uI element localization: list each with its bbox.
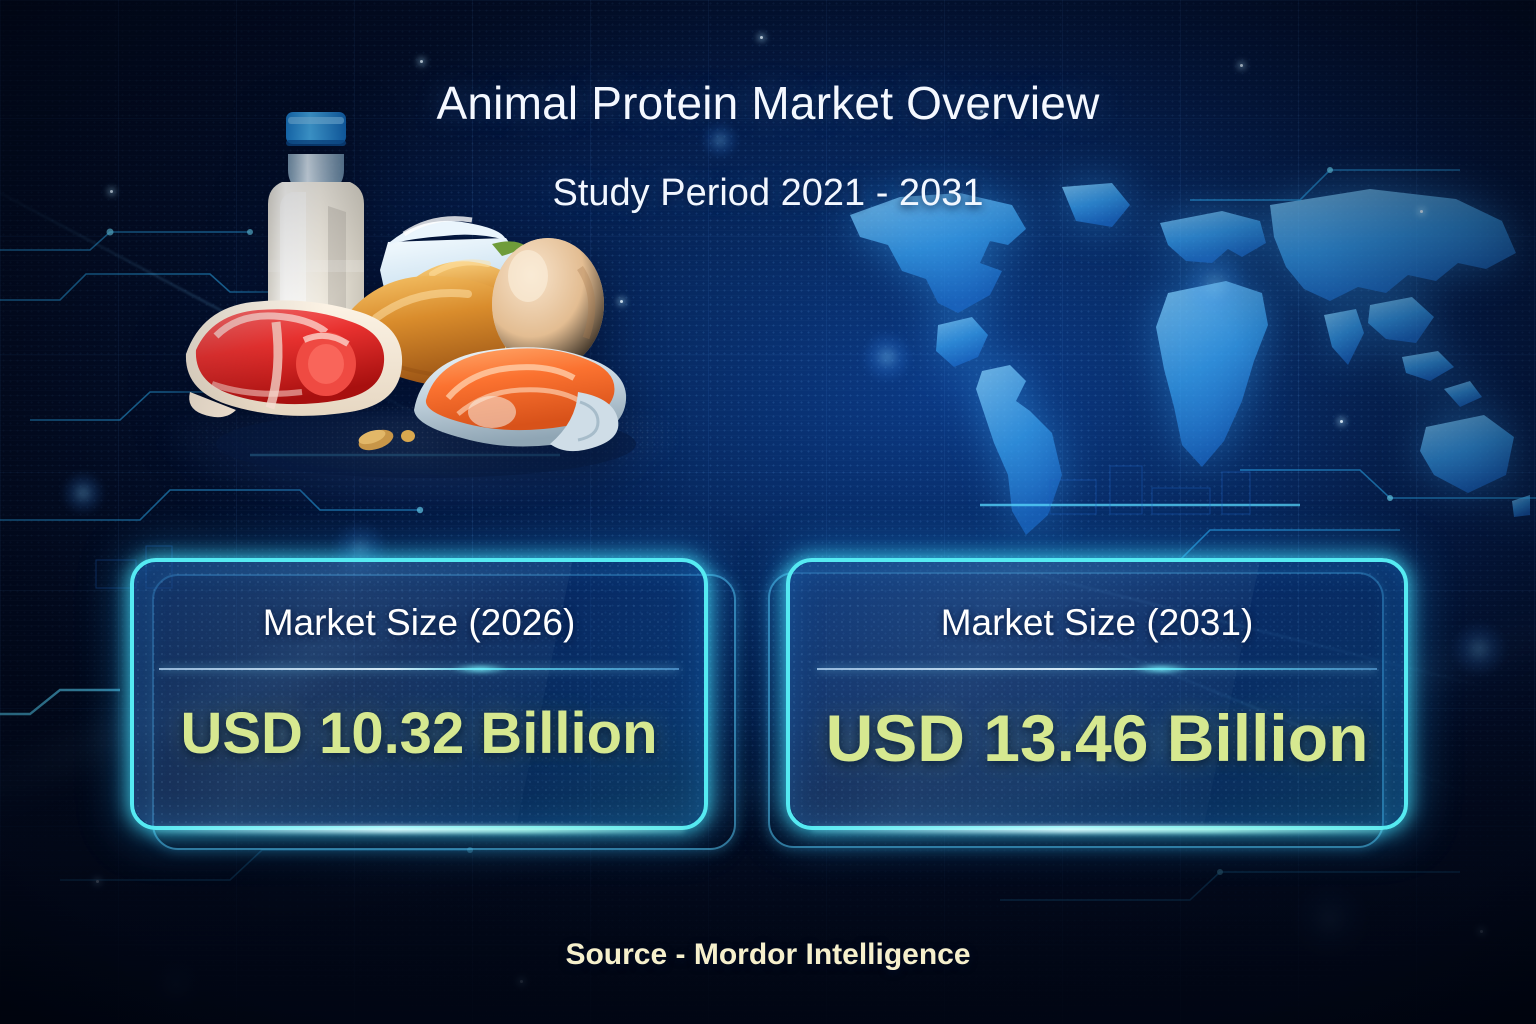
card-value: USD 13.46 Billion — [786, 700, 1408, 776]
card-label: Market Size (2026) — [130, 602, 708, 644]
page-title: Animal Protein Market Overview — [0, 76, 1536, 130]
source-attribution: Source - Mordor Intelligence — [0, 938, 1536, 972]
card-frame — [786, 558, 1408, 830]
market-size-card-2031[interactable]: Market Size (2031) USD 13.46 Billion — [786, 558, 1408, 830]
market-size-card-2026[interactable]: Market Size (2026) USD 10.32 Billion — [130, 558, 708, 830]
card-frame — [130, 558, 708, 830]
study-period-subtitle: Study Period 2021 - 2031 — [0, 172, 1536, 215]
card-divider — [159, 668, 679, 670]
card-bottom-glow — [811, 826, 1383, 833]
card-divider — [817, 668, 1377, 670]
animal-protein-food-illustration — [176, 92, 656, 492]
card-bottom-glow — [153, 826, 685, 833]
infographic-canvas: Animal Protein Market Overview Study Per… — [0, 0, 1536, 1024]
card-label: Market Size (2031) — [786, 602, 1408, 644]
card-value: USD 10.32 Billion — [130, 700, 708, 767]
